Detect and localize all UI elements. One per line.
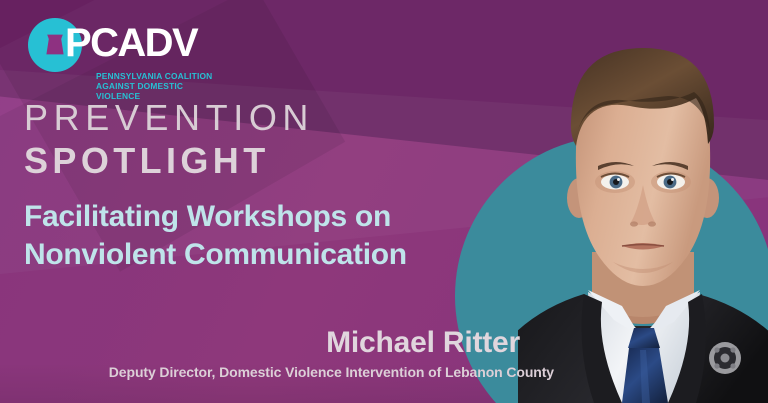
session-title-line1: Facilitating Workshops on: [24, 198, 464, 236]
speaker-portrait: [518, 40, 768, 403]
prevention-spotlight-banner: PCADV PENNSYLVANIA COALITION AGAINST DOM…: [0, 0, 768, 403]
speaker-role: Deputy Director, Domestic Violence Inter…: [109, 364, 554, 380]
session-title-line2: Nonviolent Communication: [24, 236, 464, 274]
logo-wordmark: PCADV: [65, 21, 197, 65]
pennsylvania-keystone-icon: [44, 33, 66, 56]
lapel-pin-icon: [709, 342, 741, 374]
logo-tagline-line1: PENNSYLVANIA COALITION: [96, 71, 228, 81]
kicker-prevention: PREVENTION: [24, 98, 314, 138]
pcadv-logo[interactable]: PCADV PENNSYLVANIA COALITION AGAINST DOM…: [28, 14, 228, 86]
kicker-spotlight: SPOTLIGHT: [24, 141, 270, 181]
speaker-name: Michael Ritter: [326, 326, 520, 360]
session-title: Facilitating Workshops on Nonviolent Com…: [24, 198, 464, 274]
